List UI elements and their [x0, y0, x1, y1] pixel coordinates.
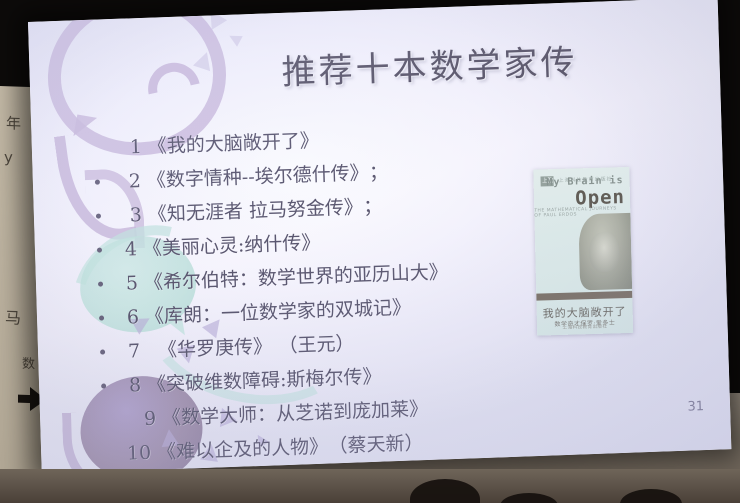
bullet-icon [101, 383, 106, 388]
board-mark-1: y [4, 148, 13, 166]
bullet-icon [99, 315, 104, 320]
list-item-title: 《数字情种--埃尔德什传》 [147, 162, 360, 192]
list-item-number: 3 [115, 198, 142, 233]
list-item-note [328, 129, 329, 151]
board-mark-2: 马 [5, 304, 21, 329]
list-item-number: 4 [110, 232, 137, 267]
list-item-title: 《华罗庚传》 [158, 335, 273, 361]
bullet-icon [96, 214, 101, 219]
book-list: 1《我的大脑敞开了》 2《数字情种--埃尔德什传》； 3《知无涯者 拉马努金传》… [93, 115, 573, 472]
bullet-icon [98, 281, 103, 286]
arrow-stem [18, 395, 36, 404]
slide-surface: 推荐十本数学家传 1《我的大脑敞开了》 2《数字情种--埃尔德什传》； 3《知无… [28, 0, 731, 474]
list-item-number: 10 [125, 436, 152, 471]
balloon-curl-decoration [138, 53, 210, 125]
list-item-note [391, 365, 392, 387]
page-number: 31 [687, 399, 704, 415]
list-item-number: 2 [114, 164, 141, 199]
list-item-number: 1 [115, 130, 142, 165]
cover-band [536, 291, 632, 301]
list-item-number: 5 [112, 266, 139, 301]
list-item-number: 7 [114, 334, 141, 369]
board-mark-3: 数 [22, 353, 35, 372]
projection-screen: 推荐十本数学家传 1《我的大脑敞开了》 2《数字情种--埃尔德什传》； 3《知无… [28, 0, 731, 474]
list-item-note: （蔡天新） [338, 432, 424, 457]
list-item-note: （王元） [288, 333, 355, 357]
list-item-note [458, 261, 459, 283]
slide-title: 推荐十本数学家传 [219, 32, 640, 96]
board-mark-0: 年 [6, 112, 21, 134]
list-item-note: ； [369, 161, 389, 184]
book-cover-image: 上教 上海科技教育出版社 My Brain is Open THE MATHEM… [533, 167, 633, 336]
list-item-note [438, 398, 439, 420]
list-item-title: 《知无涯者 拉马努金传》 [148, 196, 354, 225]
cover-portrait-photo [578, 213, 632, 290]
photograph: 年 y 马 数 [0, 0, 740, 503]
list-item-title: 《数学大师：从芝诺到庞加莱》 [162, 398, 429, 430]
list-item-title: 《库朗：一位数学家的双城记》 [145, 296, 412, 328]
bullet-icon [95, 180, 100, 185]
list-item-number: 8 [115, 368, 142, 403]
bullet-icon [97, 248, 102, 253]
triangle-decoration-3 [193, 49, 215, 71]
list-item-note: ； [363, 195, 383, 218]
list-item-note [330, 231, 331, 253]
list-item-title: 《突破维数障碍:斯梅尔传》 [147, 366, 382, 396]
list-item-number: 6 [113, 300, 140, 335]
list-item-title: 《美丽心灵:纳什传》 [143, 232, 321, 260]
list-item-title: 《我的大脑敞开了》 [148, 130, 320, 158]
bullet-icon [100, 349, 105, 354]
triangle-decoration-2 [226, 31, 242, 47]
list-item-note [421, 296, 422, 318]
list-item-number: 9 [130, 402, 157, 437]
list-item-title: 《希尔伯特：数学世界的亚历山大》 [144, 261, 448, 294]
list-item-title: 《难以企及的人物》 [157, 436, 329, 464]
